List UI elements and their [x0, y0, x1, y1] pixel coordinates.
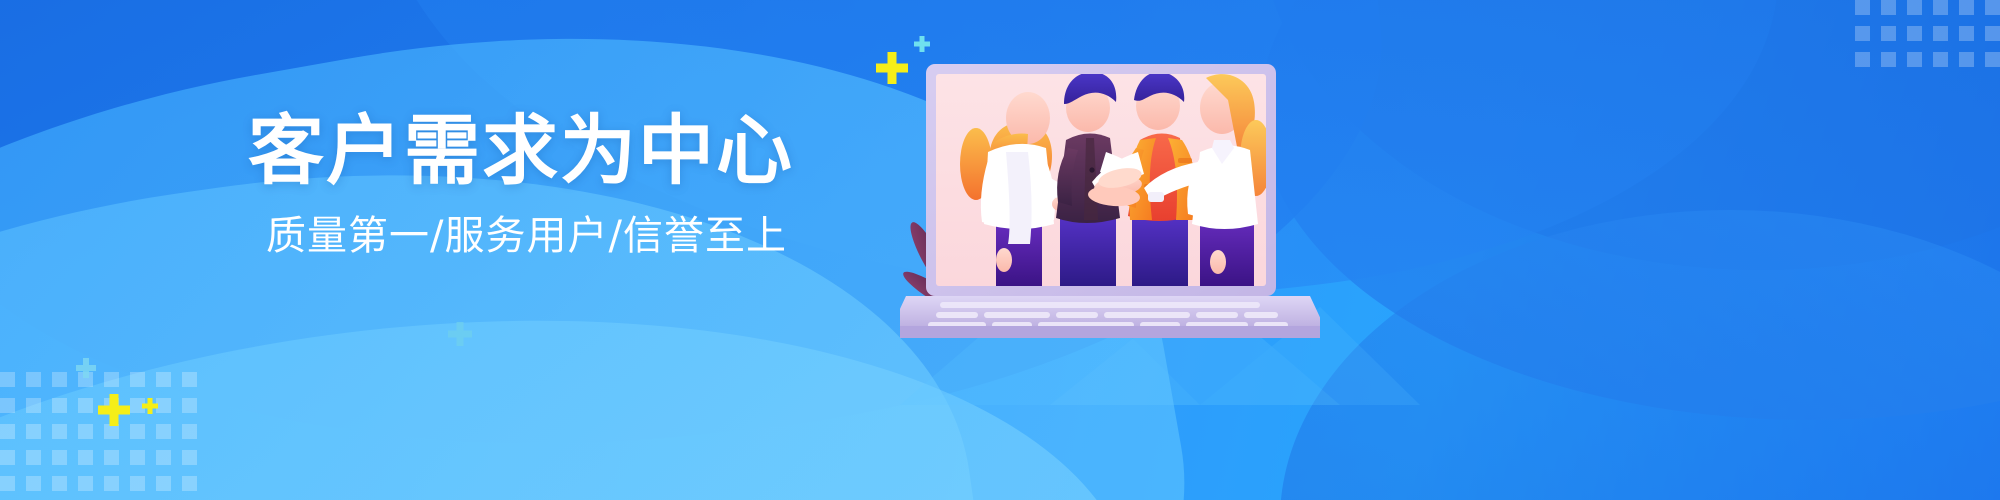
laptop-team-illustration — [900, 48, 1320, 348]
banner-copy: 客户需求为中心 质量第一/服务用户/信誉至上 — [248, 110, 948, 258]
plus-cyan-center-icon — [448, 322, 472, 346]
bg-wave-bottom-right — [1280, 210, 2000, 500]
laptop-base-front — [900, 326, 1320, 338]
dot-grid-top-right — [1855, 0, 2000, 67]
dot-grid-bottom-left — [0, 372, 197, 491]
banner-subline: 质量第一/服务用户/信誉至上 — [266, 214, 948, 258]
laptop-base — [900, 296, 1320, 326]
promo-banner: 客户需求为中心 质量第一/服务用户/信誉至上 — [0, 0, 2000, 500]
banner-headline: 客户需求为中心 — [248, 110, 948, 192]
